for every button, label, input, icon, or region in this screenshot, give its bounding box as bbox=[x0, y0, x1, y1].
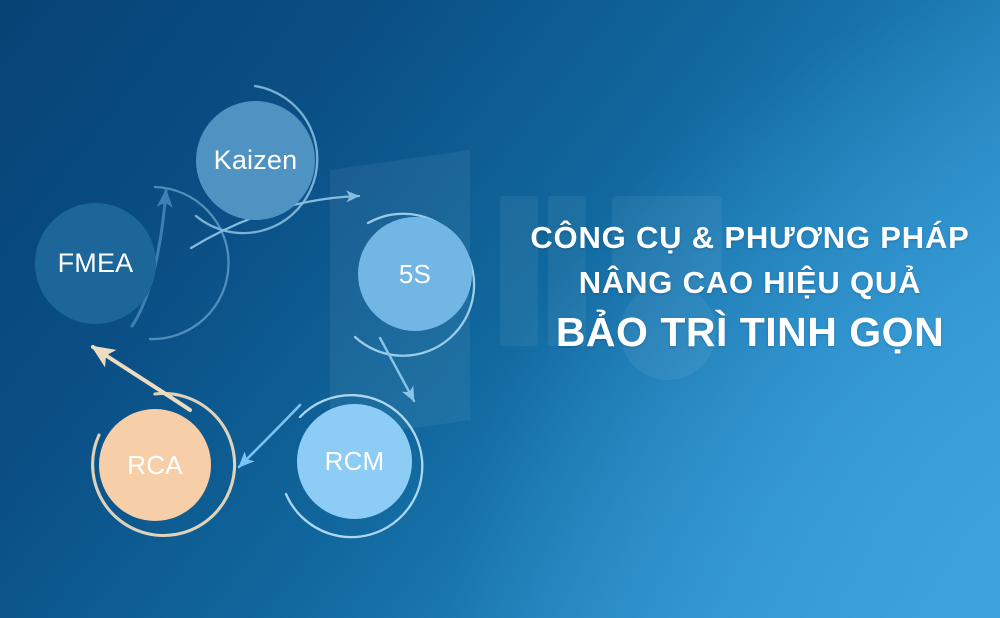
node-rcm[interactable]: RCM bbox=[297, 404, 412, 519]
node-kaizen[interactable]: Kaizen bbox=[196, 101, 315, 220]
node-fmea[interactable]: FMEA bbox=[35, 203, 156, 324]
headline-line-3: BẢO TRÌ TINH GỌN bbox=[510, 312, 990, 353]
headline-block: CÔNG CỤ & PHƯƠNG PHÁP NÂNG CAO HIỆU QUẢ … bbox=[510, 222, 990, 353]
node-fmea-label: FMEA bbox=[58, 248, 134, 279]
headline-line-2: NÂNG CAO HIỆU QUẢ bbox=[510, 267, 990, 298]
node-5s-label: 5S bbox=[399, 259, 431, 290]
tools-cycle-diagram: Kaizen FMEA 5S RCM RCA bbox=[0, 0, 510, 618]
arrow-rca-to-fmea bbox=[93, 347, 190, 410]
arrow-rcm-to-rca bbox=[239, 405, 300, 467]
node-rcm-label: RCM bbox=[325, 446, 385, 477]
poster-canvas: Kaizen FMEA 5S RCM RCA CÔNG CỤ & PHƯƠNG … bbox=[0, 0, 1000, 618]
node-kaizen-label: Kaizen bbox=[214, 145, 298, 176]
ring-fmea bbox=[150, 187, 229, 339]
node-rca-label: RCA bbox=[127, 450, 183, 481]
headline-line-1: CÔNG CỤ & PHƯƠNG PHÁP bbox=[510, 222, 990, 253]
arrow-5s-to-rcm bbox=[380, 338, 414, 401]
node-5s[interactable]: 5S bbox=[358, 217, 472, 331]
node-rca[interactable]: RCA bbox=[99, 409, 211, 521]
